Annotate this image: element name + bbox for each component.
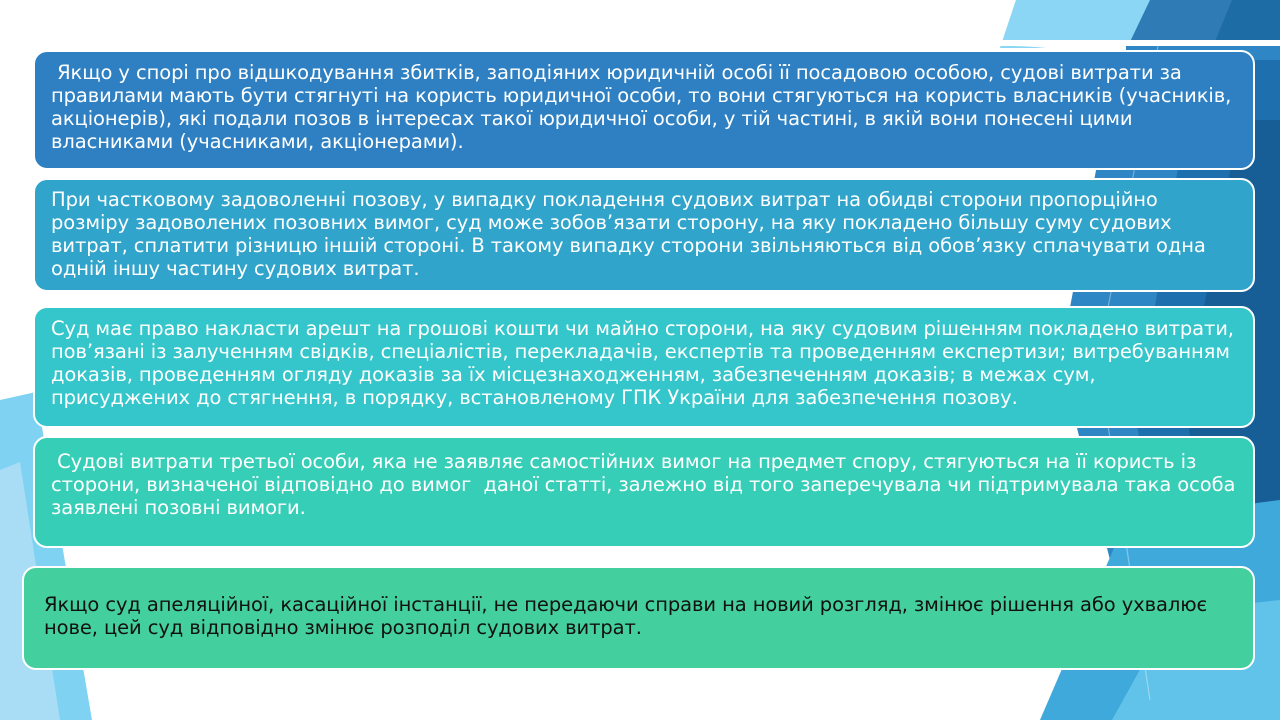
- slide-canvas: Якщо у спорі про відшкодування збитків, …: [0, 0, 1280, 720]
- content-box-2[interactable]: При частковому задоволенні позову, у вип…: [33, 178, 1255, 292]
- content-box-stack: Якщо у спорі про відшкодування збитків, …: [0, 0, 1280, 720]
- content-box-3[interactable]: Суд має право накласти арешт на грошові …: [33, 306, 1255, 428]
- content-box-5[interactable]: Якщо суд апеляційної, касаційної інстанц…: [22, 566, 1255, 670]
- content-box-1[interactable]: Якщо у спорі про відшкодування збитків, …: [33, 50, 1255, 170]
- content-box-4[interactable]: Судові витрати третьої особи, яка не зая…: [33, 436, 1255, 548]
